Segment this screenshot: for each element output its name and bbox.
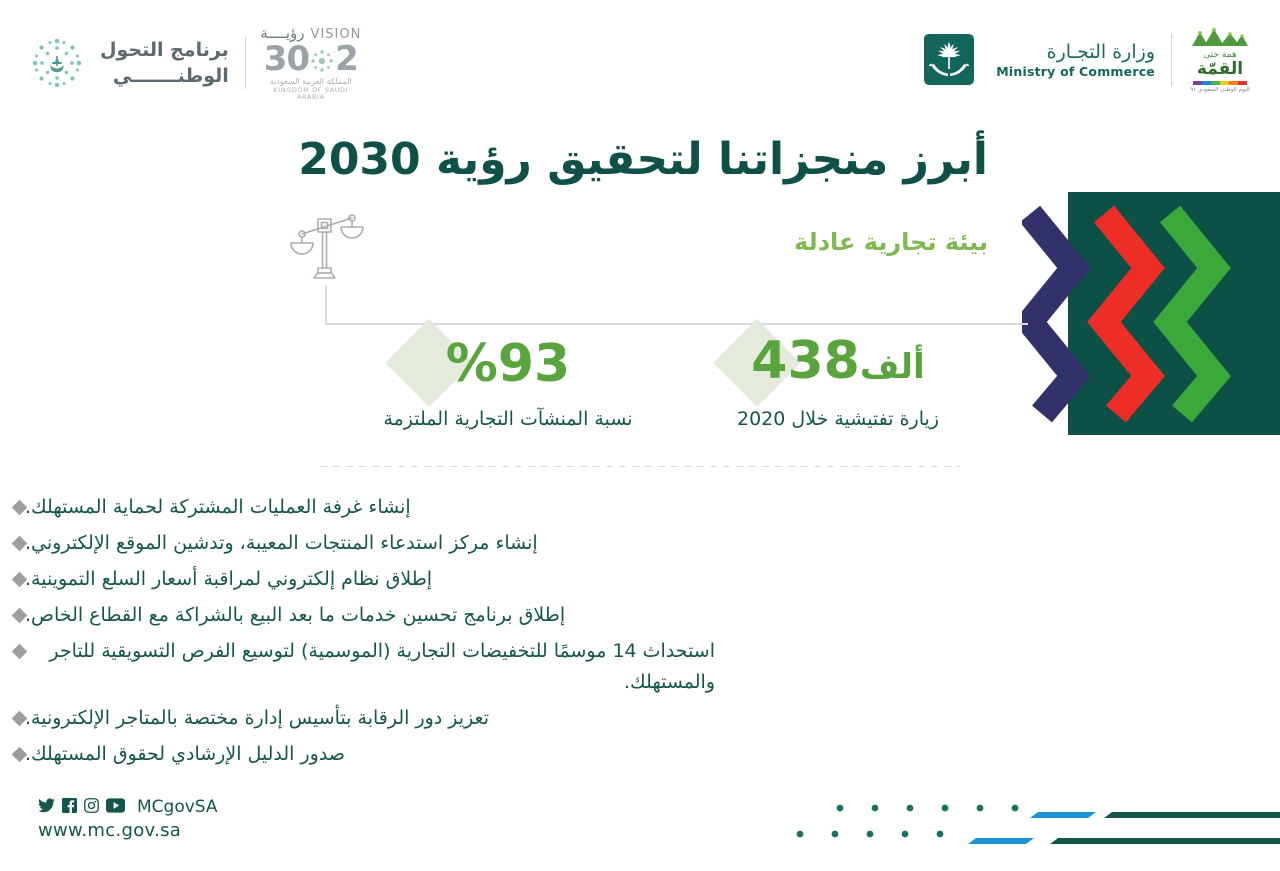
- dashed-divider: [320, 466, 960, 467]
- footer-decoration: [790, 793, 1280, 849]
- hemma-mountain-icon: [1190, 31, 1250, 50]
- stat-unit: %: [446, 334, 498, 394]
- hemma-hatta-alqimma-logo: همة حتى القمّة اليوم الوطني السعودي ٩١: [1188, 26, 1252, 93]
- youtube-icon[interactable]: [106, 798, 125, 817]
- list-item: تعزيز دور الرقابة بتأسيس إدارة مختصة بال…: [0, 703, 1000, 734]
- list-item: استحداث 14 موسمًا للتخفيضات التجارية (ال…: [0, 636, 1000, 698]
- section-title: بيئة تجارية عادلة: [794, 228, 988, 256]
- vision-logo-number: 230: [262, 41, 360, 77]
- list-item: إطلاق نظام إلكتروني لمراقبة أسعار السلع …: [0, 564, 1000, 595]
- header: VISION رؤيــــة 230 المملكة العربية السع…: [0, 0, 1280, 120]
- social-handle: MCgovSA: [137, 797, 218, 817]
- list-item-label: إطلاق نظام إلكتروني لمراقبة أسعار السلع …: [25, 564, 432, 595]
- header-right-logos: همة حتى القمّة اليوم الوطني السعودي ٩١ و…: [918, 26, 1252, 93]
- list-item-label: إنشاء غرفة العمليات المشتركة لحماية المس…: [25, 492, 411, 523]
- stat-unit: ألف: [860, 347, 925, 387]
- stat-value-row: %93: [358, 330, 658, 398]
- ntp-logo-line2: الوطنـــــــي: [100, 63, 229, 89]
- social-links[interactable]: MCgovSA: [38, 797, 218, 817]
- stat-value-row: ألف438: [688, 330, 988, 398]
- stat-value: %93: [446, 333, 570, 395]
- stat-card-visits: ألف438 زيارة تفتيشية خلال 2020: [688, 330, 988, 430]
- list-item-label: إنشاء مركز استدعاء المنتجات المعيبة، وتد…: [25, 528, 538, 559]
- list-item: إنشاء غرفة العمليات المشتركة لحماية المس…: [0, 492, 1000, 523]
- page-title: أبرز منجزاتنا لتحقيق رؤية 2030: [298, 132, 988, 188]
- hemma-caption: اليوم الوطني السعودي ٩١: [1188, 87, 1252, 93]
- header-divider-right: [1171, 34, 1172, 86]
- ntp-logo: برنامج التحول الوطنـــــــي: [28, 34, 229, 92]
- stat-number: 93: [498, 334, 570, 394]
- ntp-logo-line1: برنامج التحول: [100, 37, 229, 63]
- instagram-icon[interactable]: [84, 798, 99, 817]
- moc-logo-text: وزارة التجـارة Ministry of Commerce: [996, 40, 1155, 79]
- stat-card-compliance: %93 نسبة المنشآت التجارية الملتزمة: [358, 330, 658, 430]
- stat-label: زيارة تفتيشية خلال 2020: [688, 408, 988, 430]
- list-item-label: إطلاق برنامج تحسين خدمات ما بعد البيع با…: [25, 600, 565, 631]
- decorative-chevrons: [1022, 200, 1232, 428]
- saudi-emblem-icon: [918, 29, 980, 91]
- list-item-label: صدور الدليل الإرشادي لحقوق المستهلك.: [25, 739, 345, 770]
- list-item: إطلاق برنامج تحسين خدمات ما بعد البيع با…: [0, 600, 1000, 631]
- list-item: إنشاء مركز استدعاء المنتجات المعيبة، وتد…: [0, 528, 1000, 559]
- header-divider-left: [245, 37, 246, 89]
- moc-logo-en: Ministry of Commerce: [996, 64, 1155, 79]
- moc-logo-group: وزارة التجـارة Ministry of Commerce: [918, 29, 1155, 91]
- list-item-label: استحداث 14 موسمًا للتخفيضات التجارية (ال…: [25, 636, 715, 698]
- balance-scales-icon: [290, 212, 364, 284]
- stat-value: ألف438: [751, 330, 924, 398]
- statistics-row: ألف438 زيارة تفتيشية خلال 2020 %93 نسبة …: [292, 330, 988, 445]
- website-url[interactable]: www.mc.gov.sa: [38, 820, 218, 841]
- infographic-page: VISION رؤيــــة 230 المملكة العربية السع…: [0, 0, 1280, 871]
- header-left-logos: VISION رؤيــــة 230 المملكة العربية السع…: [28, 26, 360, 100]
- ntp-emblem-icon: [28, 34, 86, 92]
- moc-logo-ar: وزارة التجـارة: [996, 40, 1155, 64]
- vision-logo-en-sub: KINGDOM OF SAUDI ARABIA: [262, 87, 360, 100]
- ntp-logo-text: برنامج التحول الوطنـــــــي: [100, 37, 229, 89]
- footer: MCgovSA www.mc.gov.sa: [38, 797, 218, 841]
- stat-label: نسبة المنشآت التجارية الملتزمة: [358, 408, 658, 430]
- vision-logo-ar-sub: المملكة العربية السعودية: [262, 78, 360, 86]
- section-header: بيئة تجارية عادلة: [284, 228, 988, 308]
- stat-number: 438: [751, 331, 860, 391]
- vision-2030-logo: VISION رؤيــــة 230 المملكة العربية السع…: [262, 26, 360, 100]
- facebook-icon[interactable]: [62, 798, 77, 817]
- hemma-colorbar: [1193, 81, 1247, 85]
- achievements-list: إنشاء غرفة العمليات المشتركة لحماية المس…: [0, 492, 1000, 775]
- list-item-label: تعزيز دور الرقابة بتأسيس إدارة مختصة بال…: [25, 703, 489, 734]
- list-item: صدور الدليل الإرشادي لحقوق المستهلك.: [0, 739, 1000, 770]
- twitter-icon[interactable]: [38, 798, 55, 817]
- vision-ornament-icon: [309, 45, 335, 71]
- hemma-line2: القمّة: [1188, 60, 1252, 79]
